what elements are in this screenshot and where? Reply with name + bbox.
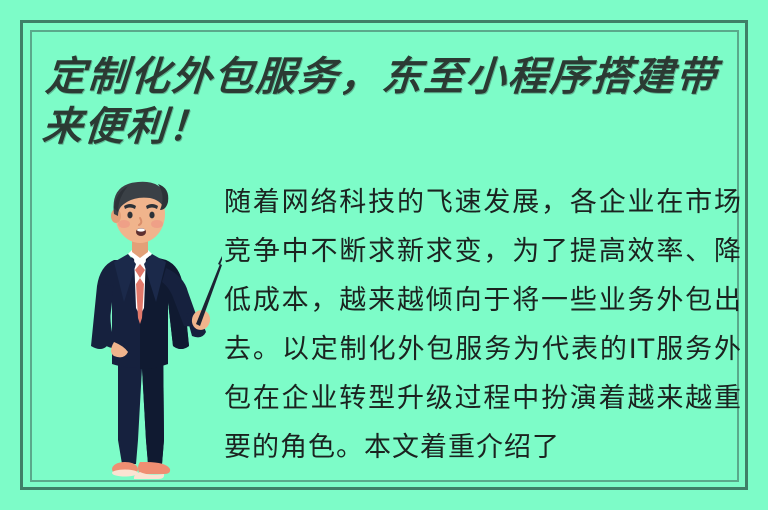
eye-right [149, 212, 154, 219]
shoe-right [138, 462, 170, 474]
promo-banner: 定制化外包服务，东至小程序搭建带来便利！ 随着网络科技的飞速发展，各企业在市场竞… [0, 0, 768, 510]
cheek-left [118, 220, 130, 228]
cheek-right [151, 220, 163, 228]
businessman-with-pointer-illustration [62, 172, 222, 487]
teeth [137, 228, 145, 231]
headline-title: 定制化外包服务，东至小程序搭建带来便利！ [41, 52, 738, 152]
eye-left [127, 212, 132, 219]
body-paragraph: 随着网络科技的飞速发展，各企业在市场竞争中不断求新求变，为了提高效率、降低成本，… [224, 178, 742, 472]
pointer-tip [218, 256, 222, 265]
shoe-left-sole [112, 470, 138, 477]
